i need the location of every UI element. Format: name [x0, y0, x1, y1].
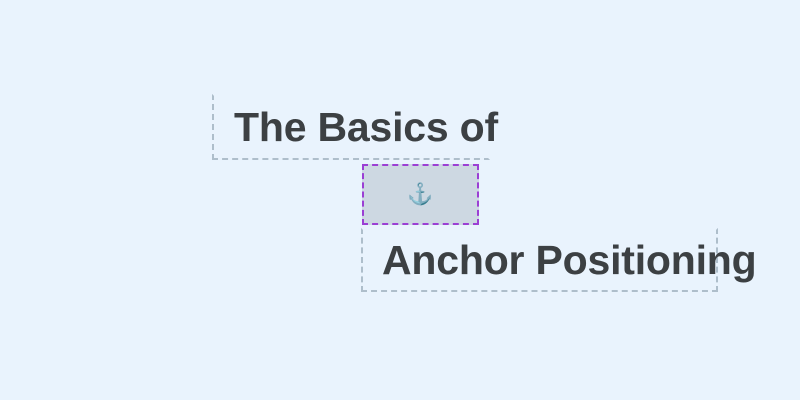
bottom-cropped-content	[0, 392, 800, 400]
anchor-element-box[interactable]: ⚓	[362, 164, 479, 225]
title-line-1-box: The Basics of	[212, 94, 490, 160]
page-title-line-1: The Basics of	[214, 107, 498, 148]
bottom-faint-text	[0, 392, 800, 400]
page-title-line-2: Anchor Positioning	[363, 240, 757, 281]
anchor-icon: ⚓	[407, 184, 433, 205]
title-line-2-box: Anchor Positioning	[361, 228, 718, 292]
slide-canvas: The Basics of ⚓ Anchor Positioning	[0, 0, 800, 400]
